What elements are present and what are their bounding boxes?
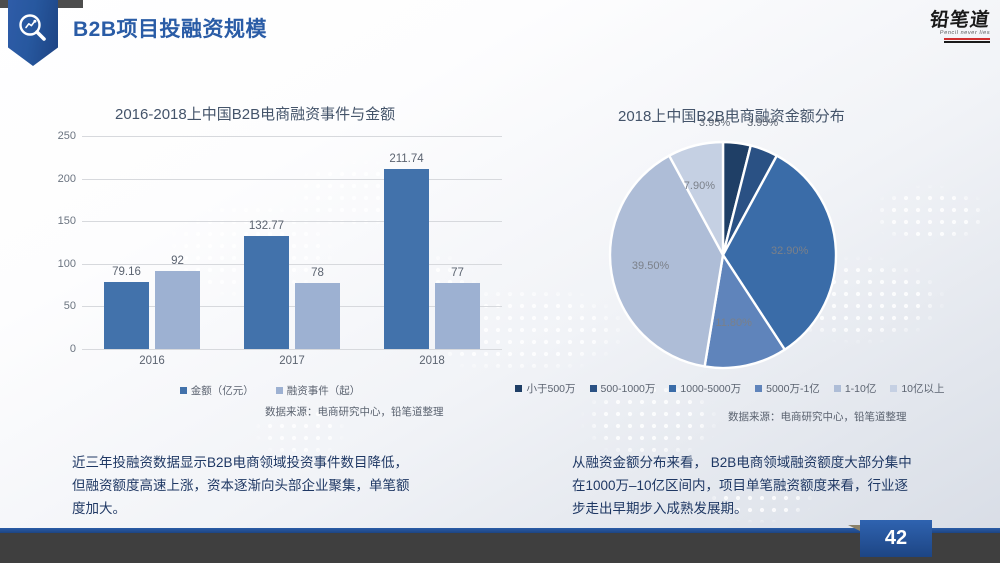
legend-swatch [180,387,187,394]
pie-chart-title: 2018上中国B2B电商融资金额分布 [618,105,845,126]
magnifier-chart-icon [17,12,49,44]
bar-chart: 05010015020025079.16922016132.7778201721… [30,128,510,373]
legend-label: 金额（亿元） [191,383,254,398]
brand-tagline: Pencil never lies [898,30,991,37]
y-axis-tick: 200 [58,173,76,185]
bar-group: 211.74772018 [362,136,502,349]
page-title: B2B项目投融资规模 [73,13,267,43]
legend-swatch [669,385,676,392]
legend-swatch [890,385,897,392]
bar-value-label: 132.77 [249,220,284,232]
legend-swatch [834,385,841,392]
header-pennant [8,0,58,66]
bar-value-label: 78 [311,267,324,279]
pie-chart-source: 数据来源：电商研究中心，铅笔道整理 [728,409,907,424]
legend-swatch [276,387,283,394]
bar-group: 132.77782017 [222,136,362,349]
legend-label: 1-10亿 [845,381,877,396]
y-axis-tick: 100 [58,258,76,270]
bar-2018-s1: 77 [435,283,480,349]
bar-2017-s0: 132.77 [244,236,289,349]
x-axis-label: 2016 [139,355,165,367]
x-axis-label: 2018 [419,355,445,367]
footer-band [0,533,1000,563]
legend-item[interactable]: 5000万-1亿 [755,381,820,396]
legend-label: 融资事件（起） [287,383,361,398]
bar-group: 79.16922016 [82,136,222,349]
legend-swatch [755,385,762,392]
legend-item[interactable]: 1-10亿 [834,381,877,396]
x-axis-label: 2017 [279,355,305,367]
bar-2016-s0: 79.16 [104,282,149,349]
legend-label: 5000万-1亿 [766,381,820,396]
bar-2016-s1: 92 [155,271,200,349]
brand-name-cn: 铅笔道 [897,10,992,30]
pie-slice-label: 3.95% [747,117,778,129]
legend-label: 500-1000万 [601,381,656,396]
note-left: 近三年投融资数据显示B2B电商领域投资事件数目降低，但融资额度高速上涨，资本逐渐… [72,451,412,520]
legend-label: 小于500万 [526,381,575,396]
brand-logo: 铅笔道 Pencil never lies [898,10,990,44]
legend-item[interactable]: 1000-5000万 [669,381,741,396]
bar-chart-source: 数据来源：电商研究中心，铅笔道整理 [265,404,444,419]
page-number: 42 [860,520,932,557]
legend-swatch [590,385,597,392]
y-axis-tick: 250 [58,130,76,142]
pie-slice-label: 3.95% [699,117,730,129]
legend-item[interactable]: 10亿以上 [890,381,944,396]
legend-label: 10亿以上 [901,381,944,396]
bar-2018-s0: 211.74 [384,169,429,349]
gridline [82,349,502,350]
slide: B2B项目投融资规模 铅笔道 Pencil never lies 2016-20… [0,0,1000,563]
pie-slice-label: 32.90% [771,245,808,257]
pie-slice-label: 11.80% [715,317,752,329]
y-axis-tick: 150 [58,215,76,227]
pie-chart: 3.95%3.95%32.90%11.80%39.50%7.90% [608,140,838,370]
bar-value-label: 77 [451,267,464,279]
brand-underline [898,38,990,43]
legend-item[interactable]: 500-1000万 [590,381,656,396]
bar-chart-title: 2016-2018上中国B2B电商融资事件与金额 [115,103,395,124]
legend-item[interactable]: 金额（亿元） [180,383,254,398]
pie-slice-label: 39.50% [632,260,669,272]
legend-label: 1000-5000万 [680,381,741,396]
pie-slice-label: 7.90% [684,180,715,192]
y-axis-tick: 0 [70,343,76,355]
bar-2017-s1: 78 [295,283,340,349]
legend-item[interactable]: 小于500万 [515,381,575,396]
bar-value-label: 79.16 [112,266,141,278]
pie-chart-legend: 小于500万500-1000万1000-5000万5000万-1亿1-10亿10… [520,381,940,396]
y-axis-tick: 50 [64,300,76,312]
bar-value-label: 92 [171,255,184,267]
bar-chart-legend: 金额（亿元）融资事件（起） [30,383,510,398]
note-right: 从融资金额分布来看， B2B电商领域融资额度大部分集中在1000万–10亿区间内… [572,451,917,520]
bar-value-label: 211.74 [389,153,423,165]
legend-swatch [515,385,522,392]
legend-item[interactable]: 融资事件（起） [276,383,361,398]
